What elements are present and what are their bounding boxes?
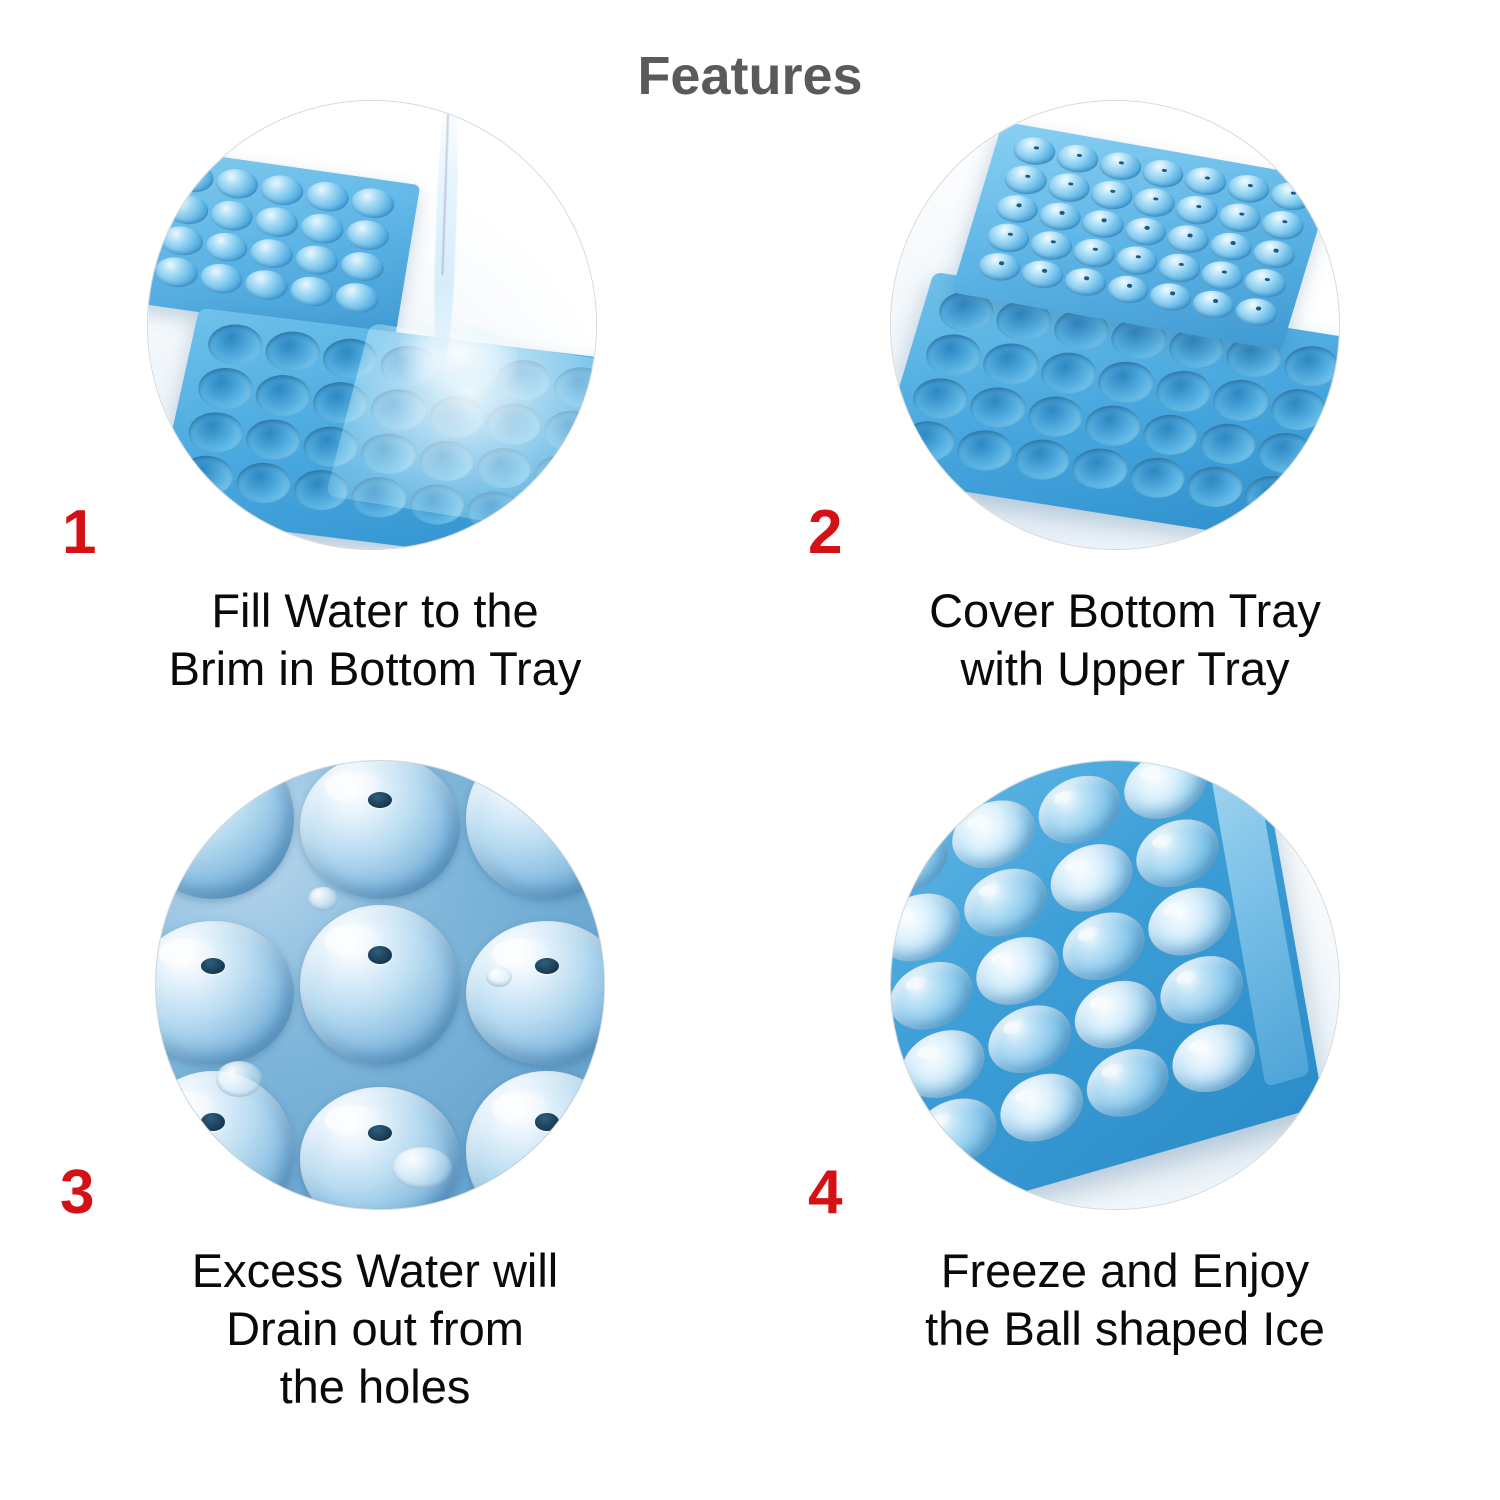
step-caption-4: Freeze and Enjoy the Ball shaped Ice (750, 1242, 1500, 1358)
caption-line: Drain out from (0, 1300, 750, 1358)
step-number-4: 4 (808, 1162, 842, 1224)
steps-grid: 1 Fill Water to the Brim in Bottom Tray (0, 100, 1500, 1500)
step-card-2: 2 Cover Bottom Tray with Upper Tray (750, 100, 1500, 790)
step-number-2: 2 (808, 502, 842, 564)
step-number-1: 1 (62, 502, 96, 564)
step-card-4: 4 Freeze and Enjoy the Ball shaped Ice (750, 760, 1500, 1450)
caption-line: the Ball shaped Ice (750, 1300, 1500, 1358)
dome-field (156, 761, 604, 1209)
water-droplet (486, 967, 512, 987)
caption-line: Cover Bottom Tray (750, 582, 1500, 640)
step-2-photo (890, 100, 1340, 550)
water-droplet (392, 1147, 452, 1189)
water-splash (398, 326, 518, 396)
step-number-3: 3 (60, 1162, 94, 1224)
water-droplet (308, 887, 338, 911)
page-title: Features (0, 46, 1500, 106)
step-4-photo (890, 760, 1340, 1210)
caption-line: Brim in Bottom Tray (0, 640, 750, 698)
step-1-photo (147, 100, 597, 550)
caption-line: the holes (0, 1358, 750, 1416)
step-3-photo (155, 760, 605, 1210)
caption-line: Fill Water to the (0, 582, 750, 640)
caption-line: with Upper Tray (750, 640, 1500, 698)
caption-line: Excess Water will (0, 1242, 750, 1300)
step-caption-3: Excess Water will Drain out from the hol… (0, 1242, 750, 1416)
step-card-1: 1 Fill Water to the Brim in Bottom Tray (0, 100, 750, 790)
caption-line: Freeze and Enjoy (750, 1242, 1500, 1300)
ice-ball-grid (891, 761, 1260, 1176)
water-droplet (216, 1061, 262, 1097)
step-caption-2: Cover Bottom Tray with Upper Tray (750, 582, 1500, 698)
step-card-3: 3 Excess Water will Drain out from the h… (0, 760, 750, 1450)
step-caption-1: Fill Water to the Brim in Bottom Tray (0, 582, 750, 698)
